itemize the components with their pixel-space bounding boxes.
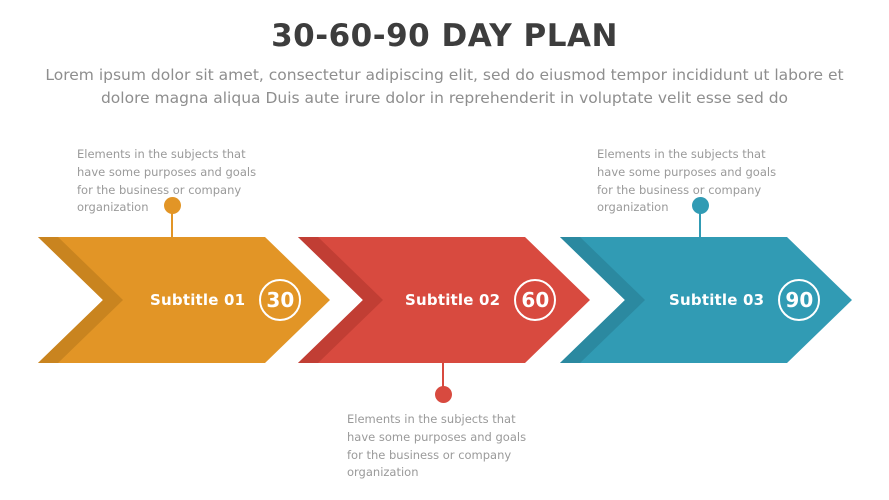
description-stage-3: Elements in the subjects that have some … [597, 146, 787, 217]
infographic-canvas: 30-60-90 DAY PLAN Lorem ipsum dolor sit … [0, 0, 889, 500]
stage-2-badge: 60 [514, 279, 556, 321]
chevron-label-stage-3: Subtitle 03 90 [669, 285, 820, 315]
page-title: 30-60-90 DAY PLAN [0, 0, 889, 55]
chevron-label-stage-1: Subtitle 01 30 [150, 285, 301, 315]
stage-1-title: Subtitle 01 [150, 291, 245, 309]
header: 30-60-90 DAY PLAN Lorem ipsum dolor sit … [0, 0, 889, 109]
connector-stem-stage-2 [442, 352, 444, 390]
stage-3-badge: 90 [778, 279, 820, 321]
stage-1-badge: 30 [259, 279, 301, 321]
stage-3-title: Subtitle 03 [669, 291, 764, 309]
description-stage-1: Elements in the subjects that have some … [77, 146, 267, 217]
page-subtitle: Lorem ipsum dolor sit amet, consectetur … [45, 55, 845, 109]
description-stage-2: Elements in the subjects that have some … [347, 411, 542, 482]
connector-dot-stage-2 [435, 386, 452, 403]
chevron-label-stage-2: Subtitle 02 60 [405, 285, 556, 315]
stage-2-title: Subtitle 02 [405, 291, 500, 309]
